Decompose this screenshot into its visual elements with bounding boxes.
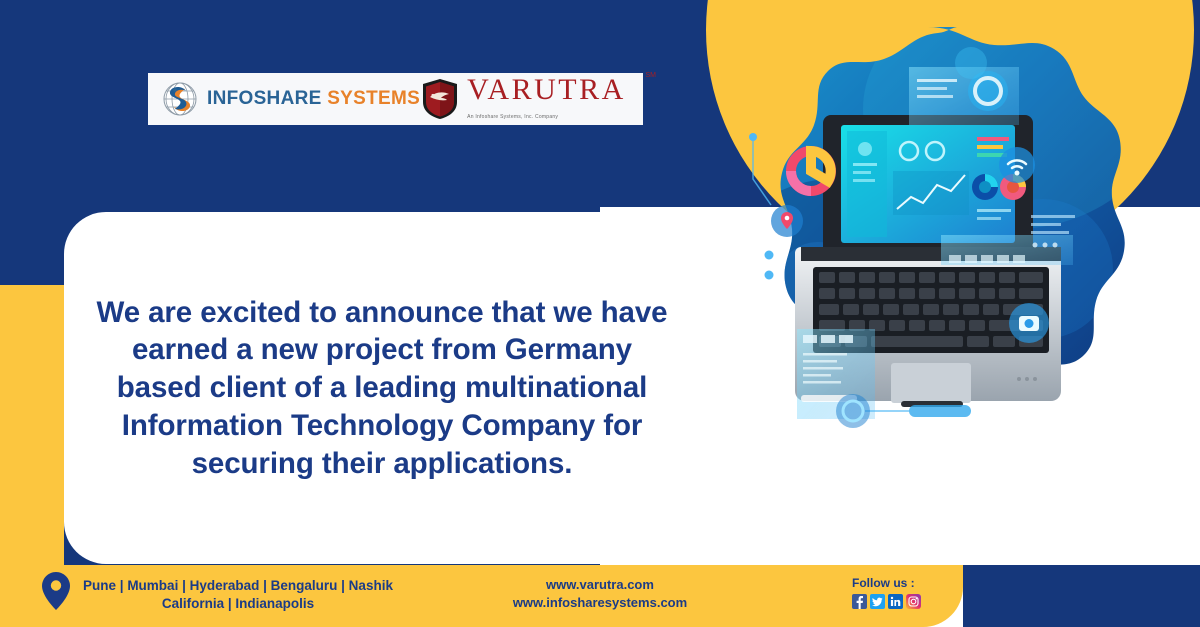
infoshare-name-part1: INFOSHARE (207, 88, 322, 109)
follow-us-section: Follow us : (852, 576, 921, 609)
instagram-icon[interactable] (906, 594, 921, 609)
follow-us-label: Follow us : (852, 576, 921, 590)
infoshare-wordmark: INFOSHARE SYSTEMS (207, 88, 420, 110)
facebook-icon[interactable] (852, 594, 867, 609)
shield-eagle-icon (420, 77, 460, 121)
infoshare-logo: INFOSHARE SYSTEMS (148, 81, 420, 117)
announcement-card: We are excited to announce that we have … (64, 212, 700, 564)
infoshare-name-part2: SYSTEMS (327, 88, 420, 109)
varutra-logo: VARUTRASM An Infoshare Systems, Inc. Com… (420, 75, 643, 123)
promo-banner: INFOSHARE SYSTEMS VARUTRASM An Infoshare… (0, 0, 1200, 627)
website-links: www.varutra.com www.infosharesystems.com (480, 576, 720, 612)
page-title: We are excited to announce that we have … (94, 294, 670, 483)
varutra-website-link[interactable]: www.varutra.com (480, 576, 720, 594)
footer-navy-block (963, 565, 1200, 627)
varutra-sm-mark: SM (646, 72, 657, 79)
map-pin-icon (42, 572, 70, 610)
varutra-name: VARUTRA (467, 75, 626, 105)
cities-line-1: Pune | Mumbai | Hyderabad | Bengaluru | … (78, 577, 398, 595)
varutra-tagline: An Infoshare Systems, Inc. Company (467, 114, 558, 120)
office-locations: Pune | Mumbai | Hyderabad | Bengaluru | … (78, 577, 398, 613)
social-icons (852, 594, 921, 609)
infosharesystems-website-link[interactable]: www.infosharesystems.com (480, 594, 720, 612)
cities-line-2: California | Indianapolis (78, 595, 398, 613)
varutra-wordmark: VARUTRASM An Infoshare Systems, Inc. Com… (467, 75, 643, 123)
logo-strip: INFOSHARE SYSTEMS VARUTRASM An Infoshare… (148, 73, 643, 125)
globe-s-icon (162, 81, 198, 117)
laptop-data-dashboard-illustration (713, 19, 1143, 451)
linkedin-icon[interactable] (888, 594, 903, 609)
twitter-icon[interactable] (870, 594, 885, 609)
